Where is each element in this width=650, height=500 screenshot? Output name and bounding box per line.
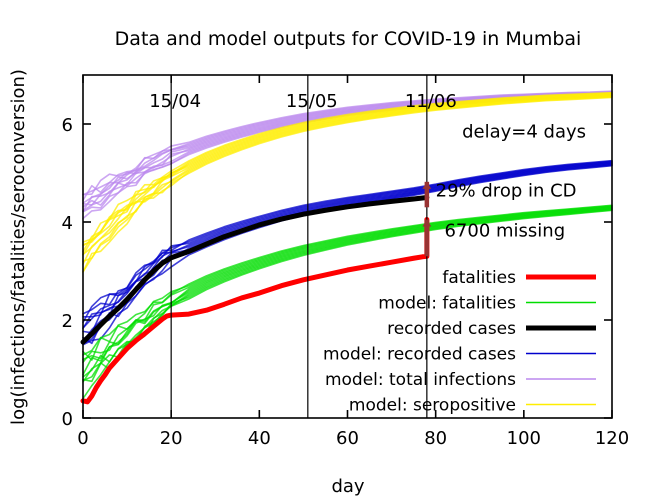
- date-marker-label: 15/04: [149, 91, 201, 112]
- x-tick-label: 100: [507, 428, 541, 449]
- x-tick-label: 80: [424, 428, 447, 449]
- chart-canvas: Data and model outputs for COVID-19 in M…: [0, 0, 650, 500]
- annotation-delay: delay=4 days: [462, 122, 586, 143]
- y-tick-label: 0: [62, 409, 73, 430]
- legend-label: model: fatalities: [378, 294, 516, 314]
- annotation-cd-drop: 29% drop in CD: [436, 181, 577, 202]
- y-tick-label: 6: [62, 115, 73, 136]
- x-tick-label: 60: [336, 428, 359, 449]
- x-axis-label: day: [331, 476, 364, 497]
- date-marker-label: 15/05: [286, 91, 338, 112]
- legend-label: model: recorded cases: [323, 345, 516, 365]
- x-tick-label: 20: [160, 428, 183, 449]
- annotation-missing: 6700 missing: [444, 221, 565, 242]
- date-marker-label: 11/06: [405, 91, 457, 112]
- x-tick-label: 0: [77, 428, 88, 449]
- legend-label: recorded cases: [387, 319, 516, 339]
- chart-title: Data and model outputs for COVID-19 in M…: [115, 28, 582, 50]
- y-tick-label: 2: [62, 311, 73, 332]
- chart-container: Data and model outputs for COVID-19 in M…: [0, 0, 650, 500]
- x-tick-label: 120: [595, 428, 629, 449]
- y-axis-label: log(infections/fatalities/seroconversion…: [8, 69, 29, 425]
- legend-label: model: total infections: [325, 370, 516, 390]
- legend-label: fatalities: [442, 268, 516, 288]
- legend-label: model: seropositive: [349, 396, 516, 416]
- x-tick-label: 40: [248, 428, 271, 449]
- y-tick-label: 4: [62, 213, 73, 234]
